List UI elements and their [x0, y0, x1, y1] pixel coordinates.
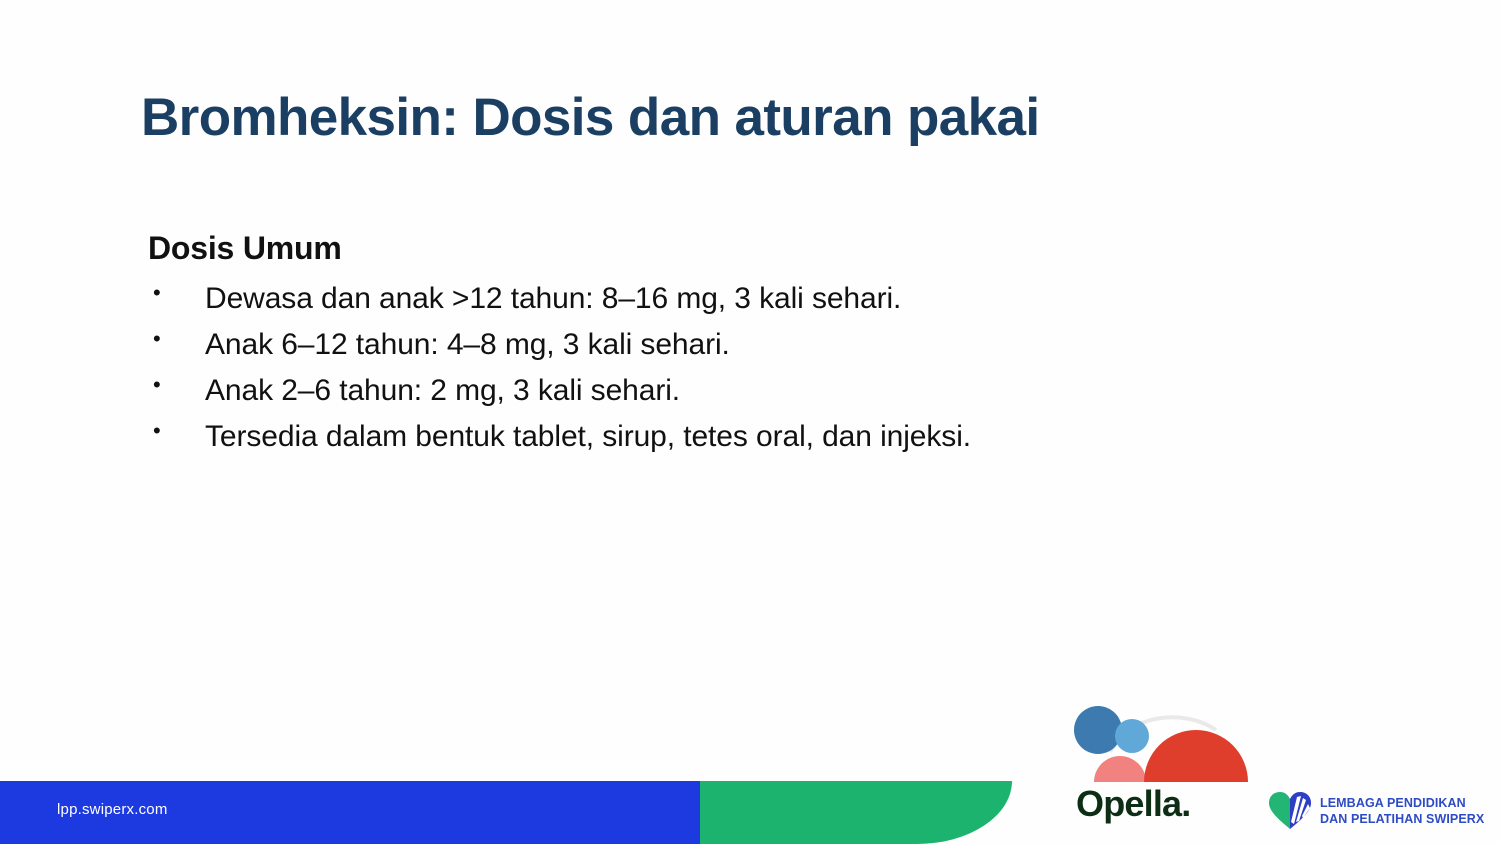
page-title: Bromheksin: Dosis dan aturan pakai	[141, 88, 1341, 147]
list-item: • Tersedia dalam bentuk tablet, sirup, t…	[148, 414, 1348, 460]
list-item: • Dewasa dan anak >12 tahun: 8–16 mg, 3 …	[148, 276, 1348, 322]
list-item: • Anak 6–12 tahun: 4–8 mg, 3 kali sehari…	[148, 322, 1348, 368]
section-heading: Dosis Umum	[148, 228, 1348, 268]
bullet-icon: •	[148, 414, 205, 448]
list-item: • Anak 2–6 tahun: 2 mg, 3 kali sehari.	[148, 368, 1348, 414]
swiperx-logo: LEMBAGA PENDIDIKAN DAN PELATIHAN SWIPERX	[1268, 787, 1493, 835]
swiperx-line-2: DAN PELATIHAN SWIPERX	[1320, 811, 1484, 828]
list-item-label: Tersedia dalam bentuk tablet, sirup, tet…	[205, 414, 1348, 460]
footer-url: lpp.swiperx.com	[57, 801, 168, 818]
dosage-bullet-list: • Dewasa dan anak >12 tahun: 8–16 mg, 3 …	[148, 276, 1348, 460]
bullet-icon: •	[148, 276, 205, 310]
swiperx-line-1: LEMBAGA PENDIDIKAN	[1320, 795, 1484, 812]
list-item-label: Dewasa dan anak >12 tahun: 8–16 mg, 3 ka…	[205, 276, 1348, 322]
opella-wordmark: Opella.	[1076, 783, 1190, 825]
footer-green-bar	[700, 781, 1012, 844]
opella-mark-icon	[1058, 700, 1258, 782]
bullet-icon: •	[148, 368, 205, 402]
opella-logo: Opella.	[1058, 700, 1258, 835]
list-item-label: Anak 2–6 tahun: 2 mg, 3 kali sehari.	[205, 368, 1348, 414]
bullet-icon: •	[148, 322, 205, 356]
content-block: Dosis Umum • Dewasa dan anak >12 tahun: …	[148, 228, 1348, 460]
swiperx-heart-icon	[1268, 791, 1312, 831]
swiperx-wordmark: LEMBAGA PENDIDIKAN DAN PELATIHAN SWIPERX	[1320, 795, 1484, 828]
list-item-label: Anak 6–12 tahun: 4–8 mg, 3 kali sehari.	[205, 322, 1348, 368]
presentation-slide: Bromheksin: Dosis dan aturan pakai Dosis…	[0, 0, 1500, 844]
